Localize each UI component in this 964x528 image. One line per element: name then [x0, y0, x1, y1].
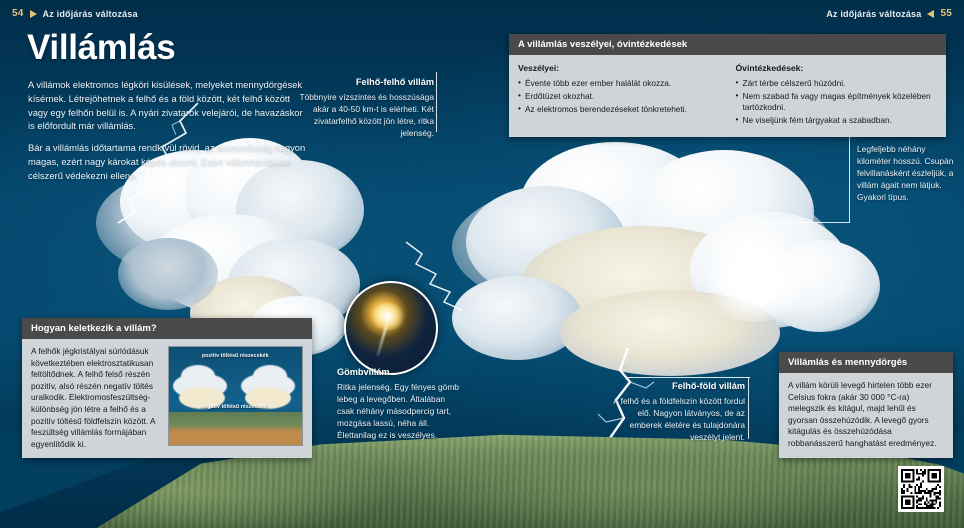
- callout-cloud-cloud: Felhő-felhő villám Többnyire vízszintes …: [298, 76, 434, 140]
- charge-separation-figure: pozitív töltésű részecskék negatív tölté…: [168, 346, 303, 446]
- running-head-right-text: Az időjárás változása: [826, 9, 921, 19]
- triangle-left-icon: [927, 10, 934, 18]
- panel-dangers-right-list: Zárt térbe célszerű húzódni. Nem szabad …: [736, 78, 938, 127]
- callout-cloud-ground-text: A felhő és a földfelszín között fordul e…: [613, 396, 745, 442]
- callout-intracloud-rule: [849, 131, 850, 223]
- list-item: Évente több ezer ember halálát okozza.: [518, 78, 720, 90]
- triangle-right-icon: [30, 10, 37, 18]
- figure-label-negative: negatív töltésű részecskék: [169, 404, 302, 411]
- panel-dangers-left-list: Évente több ezer ember halálát okozza. E…: [518, 78, 720, 116]
- intro-text: A villámok elektromos légköri kisülések,…: [28, 78, 308, 191]
- panel-how-header: Hogyan keletkezik a villám?: [22, 318, 312, 339]
- callout-cloud-ground-title: Felhő-föld villám: [605, 380, 745, 393]
- intro-paragraph-2: Bár a villámlás időtartama rendkívül röv…: [28, 141, 308, 182]
- panel-dangers-col-left: Veszélyei: Évente több ezer ember halálá…: [518, 62, 720, 129]
- callout-cloud-cloud-rule: [436, 72, 437, 132]
- callout-cloud-cloud-text: Többnyire vízszintes és hosszúsága akár …: [299, 92, 434, 138]
- panel-dangers-left-title: Veszélyei:: [518, 63, 559, 73]
- magazine-spread: 54 Az időjárás változása Az időjárás vál…: [0, 0, 964, 528]
- callout-cloud-ground-rule: [748, 377, 749, 439]
- callout-intracloud: Felhőn belüli villám Legfeljebb néhány k…: [857, 128, 957, 204]
- callout-intracloud-leader: [760, 222, 850, 223]
- ball-lightning-photo: [344, 281, 438, 375]
- page-title: Villámlás: [27, 30, 175, 65]
- list-item: Ne viseljünk fém tárgyakat a szabadban.: [736, 115, 938, 127]
- running-head-left: 54 Az időjárás változása: [12, 8, 138, 19]
- panel-how-lightning-forms: Hogyan keletkezik a villám? A felhők jég…: [22, 318, 312, 458]
- qr-code[interactable]: [898, 466, 944, 512]
- panel-how-text: A felhők jégkristályai súrlódásuk követk…: [31, 346, 159, 450]
- panel-thunder-text: A villám körüli levegő hirtelen több eze…: [779, 373, 953, 458]
- list-item: Zárt térbe célszerű húzódni.: [736, 78, 938, 90]
- panel-thunder-header: Villámlás és mennydörgés: [779, 352, 953, 373]
- page-number-right: 55: [940, 8, 952, 19]
- callout-cloud-ground: Felhő-föld villám A felhő és a földfelsz…: [605, 380, 745, 444]
- panel-dangers-right-title: Óvintézkedések:: [736, 63, 804, 73]
- callout-ball-lightning-title: Gömbvillám: [337, 366, 462, 379]
- callout-intracloud-text: Legfeljebb néhány kilométer hosszú. Csup…: [857, 144, 953, 202]
- callout-cloud-cloud-title: Felhő-felhő villám: [298, 76, 434, 89]
- callout-cloud-ground-leader: [628, 377, 750, 378]
- list-item: Az elektromos berendezéseket tönkretehet…: [518, 104, 720, 116]
- figure-label-positive: pozitív töltésű részecskék: [169, 353, 302, 360]
- callout-ball-lightning-text: Ritka jelenség. Egy fényes gömb lebeg a …: [337, 382, 459, 440]
- running-head-left-text: Az időjárás változása: [43, 9, 138, 19]
- page-number-left: 54: [12, 8, 24, 19]
- list-item: Nem szabad fa vagy magas építmények köze…: [736, 91, 938, 114]
- list-item: Erdőtüzet okozhat.: [518, 91, 720, 103]
- callout-ball-lightning: Gömbvillám Ritka jelenség. Egy fényes gö…: [337, 366, 462, 442]
- panel-dangers: A villámlás veszélyei, óvintézkedések Ve…: [509, 34, 946, 137]
- running-head-right: Az időjárás változása 55: [826, 8, 952, 19]
- panel-dangers-col-right: Óvintézkedések: Zárt térbe célszerű húzó…: [736, 62, 938, 129]
- panel-thunder: Villámlás és mennydörgés A villám körüli…: [779, 352, 953, 458]
- panel-dangers-header: A villámlás veszélyei, óvintézkedések: [509, 34, 946, 55]
- ball-lightning-glow: [371, 303, 405, 330]
- intro-paragraph-1: A villámok elektromos légköri kisülések,…: [28, 78, 308, 133]
